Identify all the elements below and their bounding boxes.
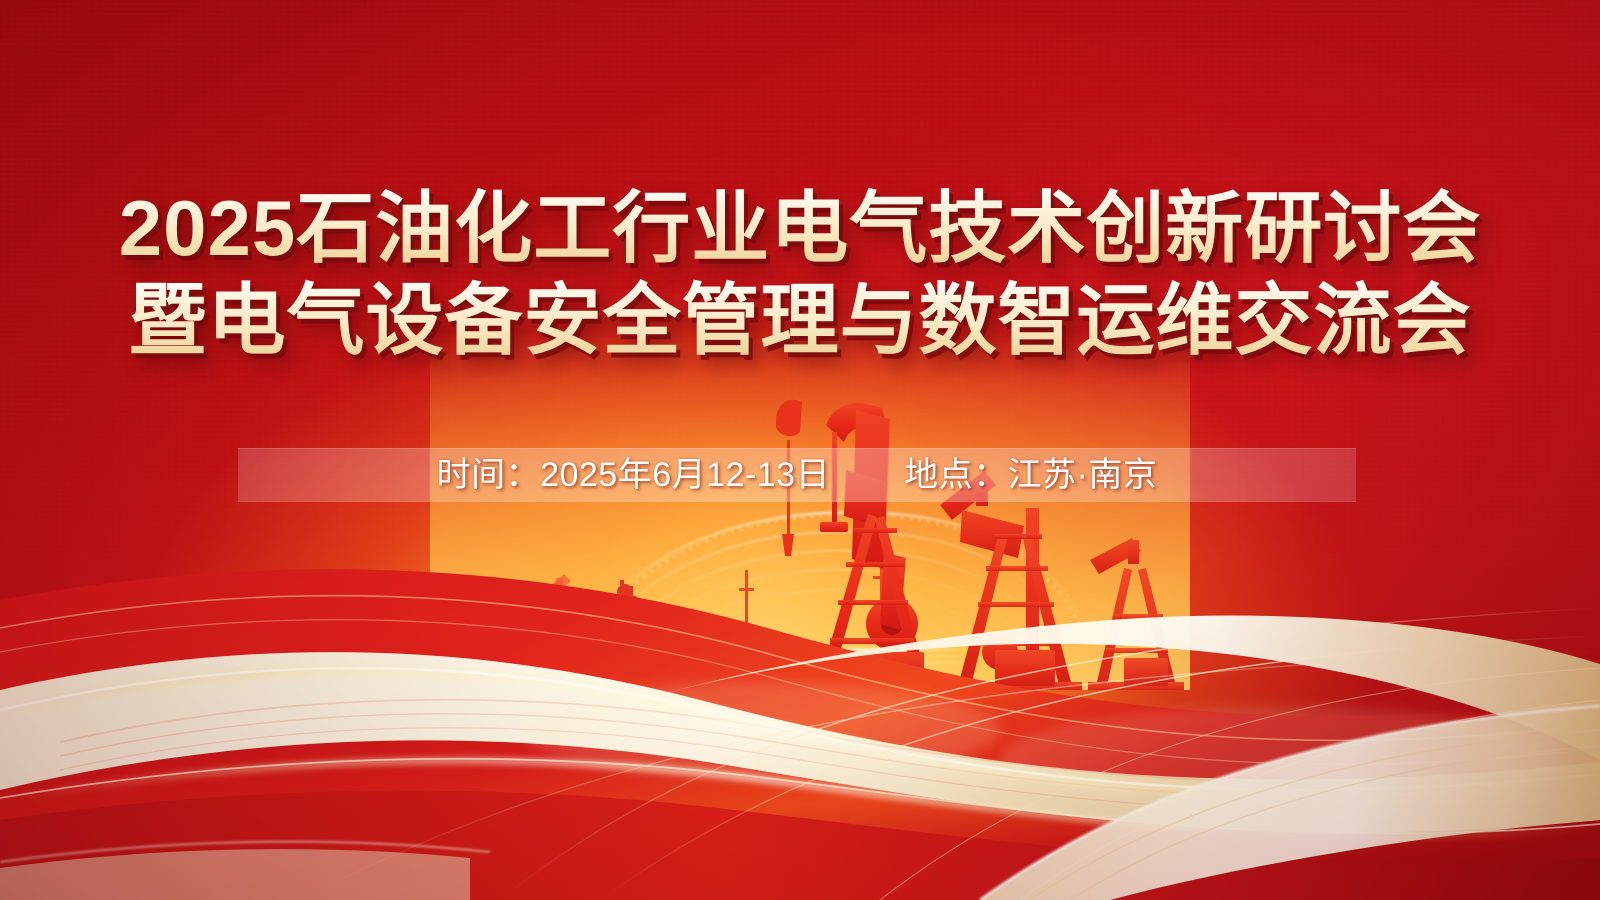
conference-banner: 2025石油化工行业电气技术创新研讨会 暨电气设备安全管理与数智运维交流会 时间… [0, 0, 1600, 900]
title-line-secondary: 暨电气设备安全管理与数智运维交流会 [0, 278, 1600, 362]
pumpjack-icon [808, 403, 938, 691]
event-location-text: 地点：江苏·南京 [904, 456, 1157, 494]
event-date-text: 时间：2025年6月12-13日 [437, 456, 831, 494]
light-arc-group [565, 512, 1092, 690]
page-title: 2025石油化工行业电气技术创新研讨会 暨电气设备安全管理与数智运维交流会 [0, 186, 1600, 362]
pumpjack-icon [1088, 538, 1184, 691]
refinery-icon [585, 580, 767, 660]
arc-dot-trail [572, 515, 1088, 688]
ribbon-wave-icon [0, 569, 1600, 900]
mast-icon [739, 556, 890, 660]
title-line-primary: 2025石油化工行业电气技术创新研讨会 [0, 186, 1600, 270]
pumpjack-icon [520, 574, 578, 660]
horizon-light-streaks [560, 648, 1080, 677]
event-info-bar: 时间：2025年6月12-13日 地点：江苏·南京 [238, 448, 1356, 502]
pumpjack-icon [940, 471, 1082, 691]
pumpjack-icon [475, 590, 515, 660]
